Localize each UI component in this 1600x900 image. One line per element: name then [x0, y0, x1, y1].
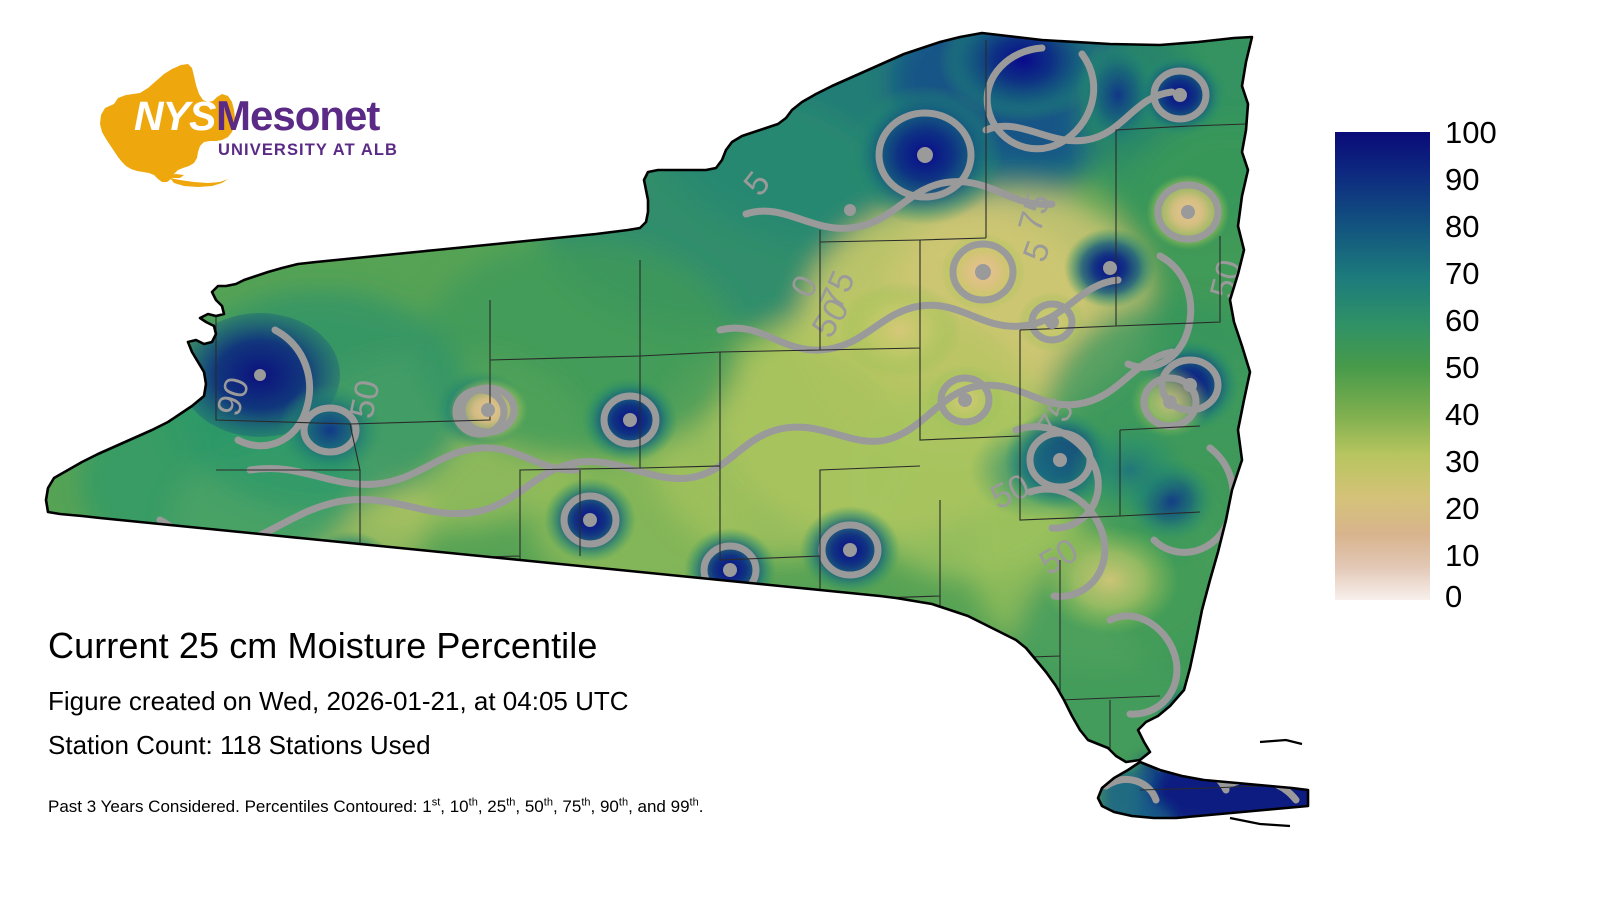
footnote-ordinal-1: 1: [422, 797, 431, 816]
footnote-ordinal-50: 50: [525, 797, 544, 816]
footnote-ordinal-suffix: th: [581, 796, 590, 808]
footnote-ordinal-suffix: th: [469, 796, 478, 808]
station-count: Station Count: 118 Stations Used: [48, 718, 1028, 761]
footnote-ordinal-suffix: th: [544, 796, 553, 808]
created-timestamp: Figure created on Wed, 2026-01-21, at 04…: [48, 666, 1028, 717]
colorbar: 100 90 80 70 60 50 40 30 20 10 0: [1320, 110, 1580, 620]
footnote-ordinal-90: 90: [600, 797, 619, 816]
cb-tick-40: 40: [1445, 397, 1479, 432]
page-title: Current 25 cm Moisture Percentile: [48, 625, 1028, 666]
footnote-ordinal-10: 10: [450, 797, 469, 816]
cb-tick-70: 70: [1445, 256, 1479, 291]
cb-tick-80: 80: [1445, 209, 1479, 244]
cb-tick-10: 10: [1445, 538, 1479, 573]
cb-tick-100: 100: [1445, 115, 1497, 150]
colorbar-tick-labels: 100 90 80 70 60 50 40 30 20 10 0: [1445, 115, 1497, 614]
figure-canvas: NYS Mesonet UNIVERSITY AT ALBANY: [0, 0, 1600, 900]
footnote-ordinal-99: 99: [671, 797, 690, 816]
footnote-prefix: Past 3 Years Considered. Percentiles Con…: [48, 797, 422, 816]
footnote-ordinal-suffix: st: [432, 796, 441, 808]
colorbar-gradient: [1335, 132, 1430, 600]
footnote-ordinal-suffix: th: [619, 796, 628, 808]
footnote-ordinal-suffix: th: [690, 796, 699, 808]
cb-tick-0: 0: [1445, 579, 1462, 614]
footnote: Past 3 Years Considered. Percentiles Con…: [48, 761, 1028, 817]
figure-caption-block: Current 25 cm Moisture Percentile Figure…: [48, 625, 1028, 817]
cb-tick-90: 90: [1445, 162, 1479, 197]
cb-tick-50: 50: [1445, 350, 1479, 385]
svg-text:50: 50: [71, 520, 120, 569]
cb-tick-60: 60: [1445, 303, 1479, 338]
footnote-ordinal-75: 75: [562, 797, 581, 816]
footnote-list: 1st, 10th, 25th, 50th, 75th, 90th, and 9…: [422, 797, 703, 816]
svg-text:50: 50: [343, 377, 388, 422]
footnote-ordinal-suffix: th: [506, 796, 515, 808]
cb-tick-20: 20: [1445, 491, 1479, 526]
cb-tick-30: 30: [1445, 444, 1479, 479]
footnote-ordinal-25: 25: [487, 797, 506, 816]
